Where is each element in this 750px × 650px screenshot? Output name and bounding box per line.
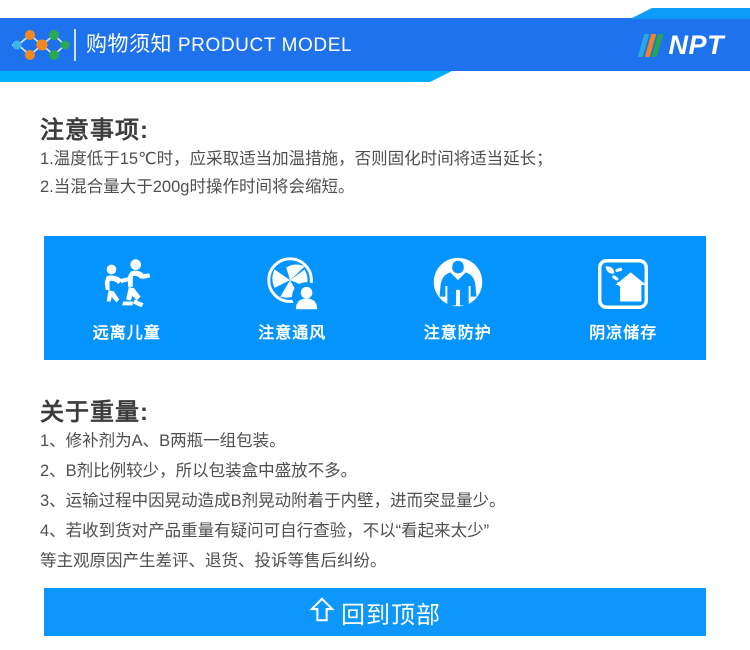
back-to-top-content: 回到顶部 xyxy=(309,595,441,630)
children-running-icon xyxy=(96,253,158,315)
safety-item-label: 阴凉储存 xyxy=(589,319,657,343)
weight-line: 等主观原因产生差评、退货、投诉等售后纠纷。 xyxy=(40,548,387,574)
molecule-network-icon xyxy=(10,26,70,64)
weight-line: 4、若收到货对产品重量有疑问可自行查验，不以“看起来太少” xyxy=(40,518,489,544)
page-header: 购物须知 PRODUCT MODEL NPT xyxy=(0,0,750,90)
safety-icon-panel: 远离儿童 注意通风 xyxy=(44,236,706,360)
arrow-up-outline-icon xyxy=(309,596,335,629)
safety-item-label: 注意防护 xyxy=(424,319,492,343)
safety-item-keep-away-from-children: 远离儿童 xyxy=(52,236,202,360)
notice-line: 2.当混合量大于200g时操作时间将会缩短。 xyxy=(40,174,354,200)
weight-line: 1、修补剂为A、B两瓶一组包装。 xyxy=(40,428,286,454)
back-to-top-label: 回到顶部 xyxy=(341,595,441,630)
safety-item-label: 远离儿童 xyxy=(93,319,161,343)
brand-logo: NPT xyxy=(641,28,725,62)
cool-storage-house-icon xyxy=(592,253,654,315)
weight-line: 2、B剂比例较少，所以包装盒中盛放不多。 xyxy=(40,458,357,484)
weight-heading: 关于重量: xyxy=(40,392,149,427)
header-accent-stripe-top xyxy=(630,8,750,19)
back-to-top-button[interactable]: 回到顶部 xyxy=(44,588,706,636)
header-accent-stripe-bottom xyxy=(0,71,452,82)
triple-slash-icon xyxy=(641,34,662,57)
safety-item-cool-storage: 阴凉储存 xyxy=(548,236,698,360)
brand-name: NPT xyxy=(669,31,725,59)
page-title-en: PRODUCT MODEL xyxy=(178,35,352,56)
notice-heading: 注意事项: xyxy=(40,110,149,145)
page-title: 购物须知 PRODUCT MODEL xyxy=(86,31,352,60)
weight-line: 3、运输过程中因晃动造成B剂晃动附着于内壁，进而突显量少。 xyxy=(40,488,506,514)
ventilation-fan-icon xyxy=(261,253,323,315)
safety-item-ventilation: 注意通风 xyxy=(217,236,367,360)
notice-line: 1.温度低于15℃时，应采取适当加温措施，否则固化时间将适当延长； xyxy=(40,146,553,172)
header-divider xyxy=(74,29,76,61)
safety-item-protection: 注意防护 xyxy=(383,236,533,360)
protective-suit-icon xyxy=(427,253,489,315)
page-title-cn: 购物须知 xyxy=(86,33,172,56)
safety-item-label: 注意通风 xyxy=(258,319,326,343)
